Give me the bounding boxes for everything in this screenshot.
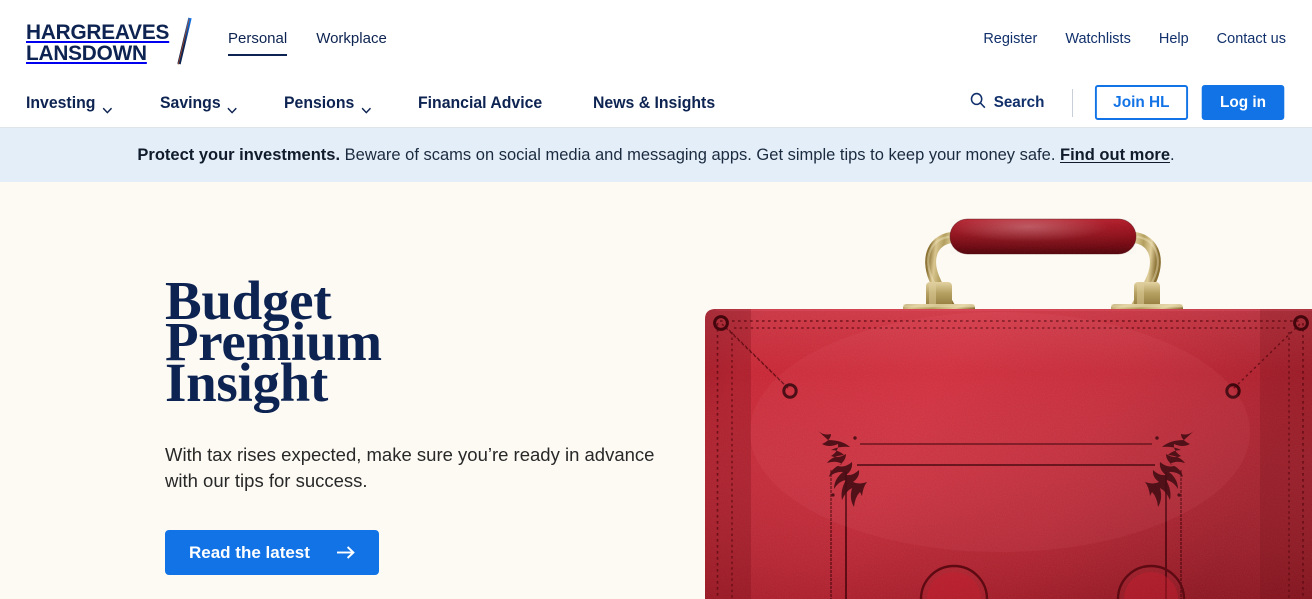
nav-item-label: Investing — [26, 93, 95, 113]
alert-suffix: . — [1170, 146, 1175, 164]
nav-item-pensions[interactable]: Pensions — [284, 93, 371, 113]
utility-link-register[interactable]: Register — [983, 30, 1037, 48]
chevron-down-icon — [227, 99, 237, 106]
search-label: Search — [994, 94, 1045, 112]
utility-nav: Register Watchlists Help Contact us — [983, 30, 1286, 48]
nav-item-savings[interactable]: Savings — [160, 93, 237, 113]
hero-section: Budget Premium Insight With tax rises ex… — [0, 182, 1312, 599]
site-logo[interactable]: HARGREAVES LANSDOWN — [26, 22, 171, 64]
search-button[interactable]: Search — [970, 92, 1044, 114]
nav-item-label: Pensions — [284, 93, 354, 113]
read-the-latest-button[interactable]: Read the latest — [165, 530, 379, 575]
utility-link-watchlists[interactable]: Watchlists — [1065, 30, 1131, 48]
hero-cta-label: Read the latest — [189, 543, 310, 563]
primary-nav: Investing Savings Pensions — [26, 78, 724, 127]
hero-copy: Budget Premium Insight With tax rises ex… — [165, 182, 685, 575]
alert-find-out-more-link[interactable]: Find out more — [1060, 146, 1170, 164]
hero-subtitle: With tax rises expected, make sure you’r… — [165, 442, 685, 494]
nav-item-investing[interactable]: Investing — [26, 93, 112, 113]
logo-slash-icon — [170, 16, 200, 66]
header-actions: Search Join HL Log in — [968, 78, 1286, 127]
audience-tabs: Personal Workplace — [228, 30, 387, 56]
tab-personal[interactable]: Personal — [228, 30, 287, 56]
join-hl-button[interactable]: Join HL — [1095, 85, 1188, 120]
hero-briefcase-image — [700, 182, 1312, 599]
hero-title: Budget Premium Insight — [165, 280, 685, 403]
arrow-right-icon — [336, 545, 355, 560]
header-top-row: HARGREAVES LANSDOWN Personal — [0, 0, 1312, 78]
nav-item-label: Financial Advice — [418, 93, 542, 113]
page-root: HARGREAVES LANSDOWN Personal — [0, 0, 1312, 599]
utility-link-contact-us[interactable]: Contact us — [1217, 30, 1286, 48]
actions-divider — [1072, 89, 1073, 117]
nav-item-label: News & Insights — [593, 93, 715, 113]
logo-wordmark: HARGREAVES LANSDOWN — [26, 22, 169, 64]
header-main-row: Investing Savings Pensions — [0, 78, 1312, 127]
tab-workplace[interactable]: Workplace — [316, 30, 387, 56]
log-in-button[interactable]: Log in — [1202, 85, 1285, 120]
search-icon — [970, 92, 986, 114]
nav-item-news-and-insights[interactable]: News & Insights — [593, 93, 715, 113]
nav-item-financial-advice[interactable]: Financial Advice — [418, 93, 542, 113]
chevron-down-icon — [361, 99, 371, 106]
site-header: HARGREAVES LANSDOWN Personal — [0, 0, 1312, 128]
alert-body: Beware of scams on social media and mess… — [340, 146, 1060, 164]
nav-item-label: Savings — [160, 93, 221, 113]
scam-alert-text: Protect your investments. Beware of scam… — [137, 145, 1174, 165]
chevron-down-icon — [102, 99, 112, 106]
scam-alert-banner: Protect your investments. Beware of scam… — [0, 128, 1312, 182]
utility-link-help[interactable]: Help — [1159, 30, 1189, 48]
alert-bold-prefix: Protect your investments. — [137, 146, 340, 164]
